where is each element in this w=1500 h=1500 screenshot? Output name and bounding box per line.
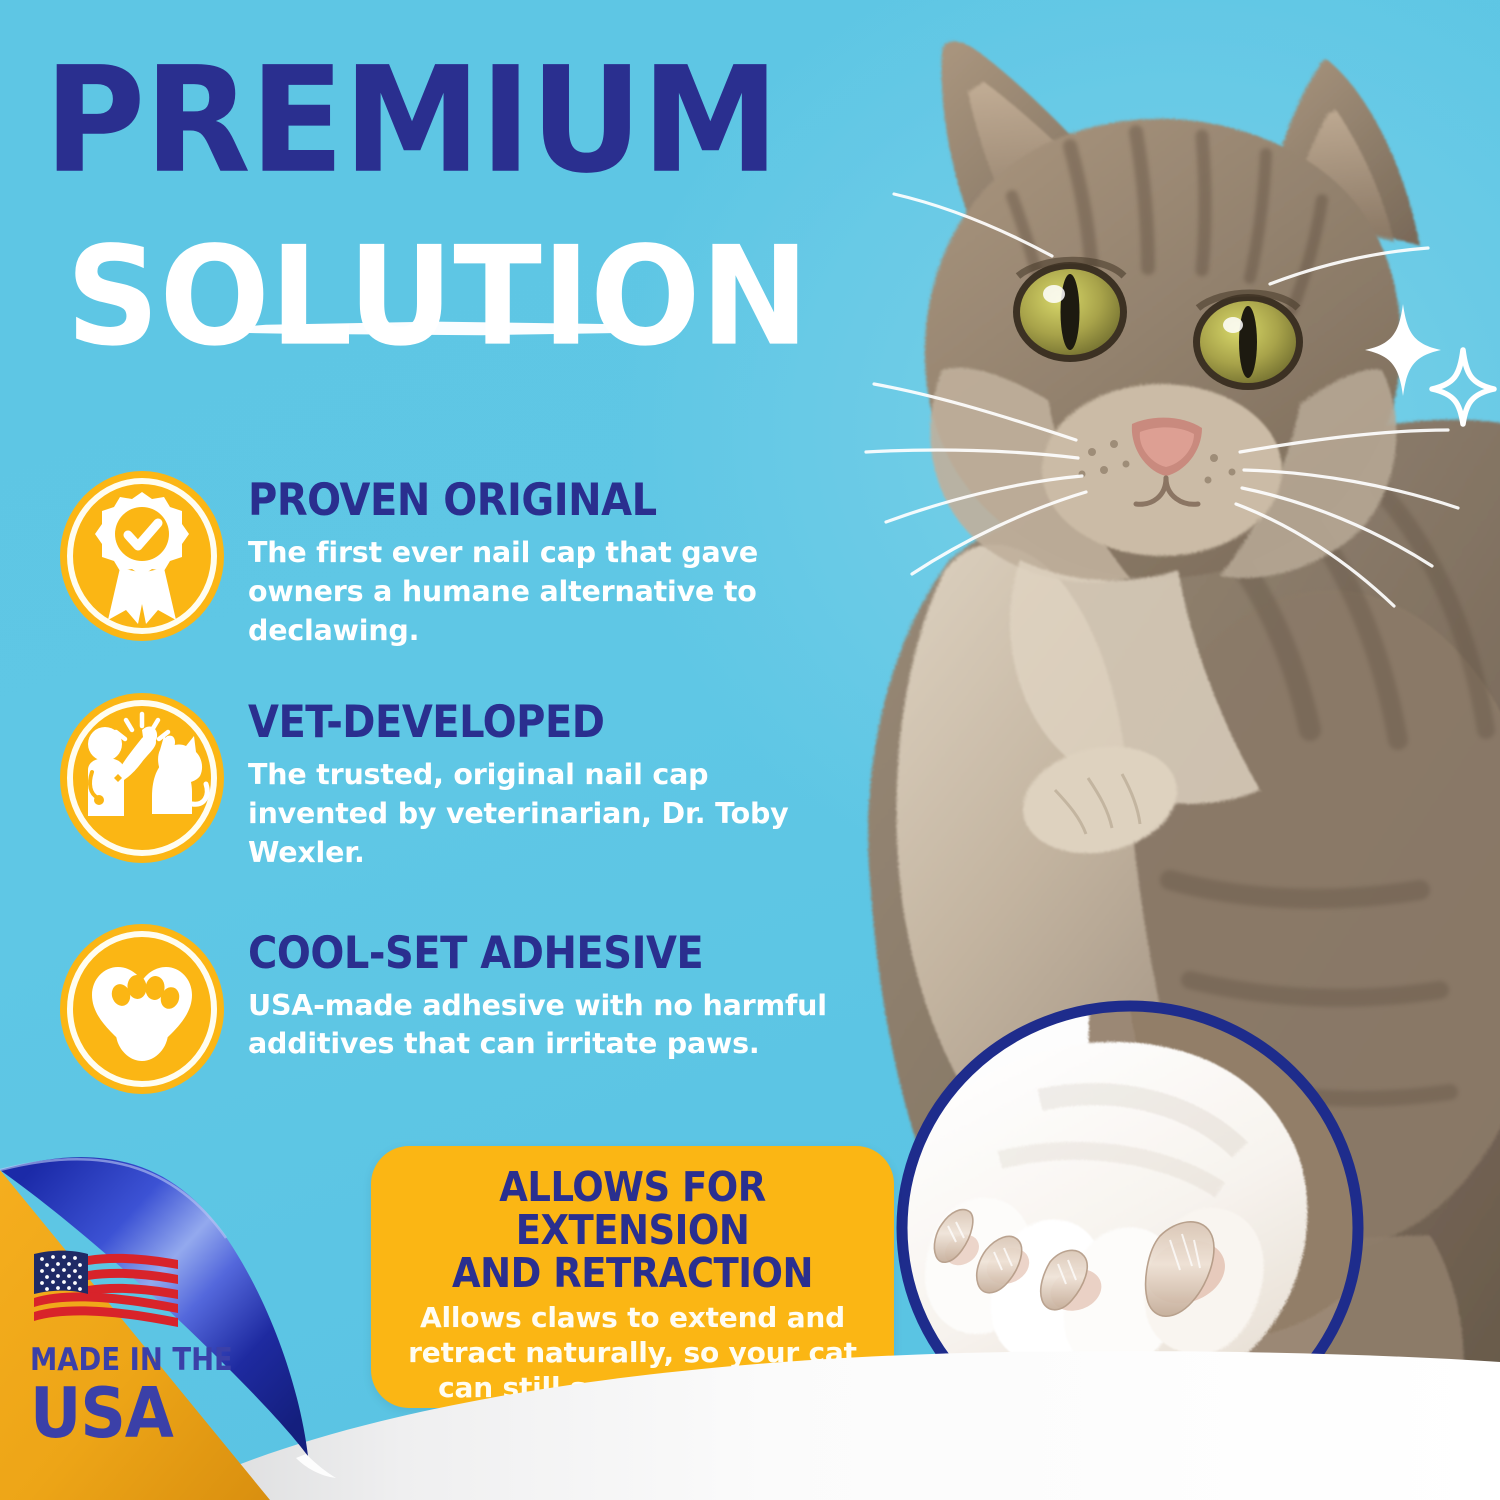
made-in-usa-badge: MADE IN THE USA bbox=[30, 1246, 260, 1438]
feature-title: VET-DEVELOPED bbox=[248, 700, 888, 745]
feature-item-cool-set-adhesive: COOL-SET ADHESIVE USA-made adhesive with… bbox=[58, 923, 888, 1095]
feature-list: PROVEN ORIGINAL The first ever nail cap … bbox=[58, 470, 888, 1095]
callout-title-line1: ALLOWS FOR EXTENSION bbox=[387, 1166, 878, 1252]
callout-body: Allows claws to extend and retract natur… bbox=[387, 1300, 878, 1441]
feature-description: The trusted, original nail cap invented … bbox=[248, 756, 848, 872]
headline-premium: PREMIUM bbox=[44, 52, 897, 192]
headline-solution: SOLUTION bbox=[66, 230, 944, 364]
headline-block: PREMIUM SOLUTION bbox=[44, 52, 864, 345]
feature-description: USA-made adhesive with no harmful additi… bbox=[248, 987, 848, 1065]
award-ribbon-icon bbox=[58, 470, 226, 642]
feature-title: COOL-SET ADHESIVE bbox=[248, 931, 888, 976]
feature-text-block: VET-DEVELOPED The trusted, original nail… bbox=[248, 692, 888, 872]
callout-extension-retraction: ALLOWS FOR EXTENSION AND RETRACTION Allo… bbox=[371, 1146, 894, 1408]
sparkle-star-solid-icon bbox=[1365, 304, 1441, 396]
callout-title: ALLOWS FOR EXTENSION AND RETRACTION bbox=[387, 1166, 878, 1295]
callout-title-line2: AND RETRACTION bbox=[387, 1252, 878, 1295]
made-in-usa-line1: MADE IN THE bbox=[30, 1344, 255, 1375]
sparkle-star-outline-icon bbox=[1432, 350, 1494, 424]
feature-text-block: PROVEN ORIGINAL The first ever nail cap … bbox=[248, 470, 888, 650]
feature-text-block: COOL-SET ADHESIVE USA-made adhesive with… bbox=[248, 923, 888, 1065]
infographic-canvas: PREMIUM SOLUTION PROVEN OR bbox=[0, 0, 1500, 1500]
sparkle-group bbox=[1355, 298, 1500, 428]
feature-description: The first ever nail cap that gave owners… bbox=[248, 534, 848, 650]
heart-paw-icon bbox=[58, 923, 226, 1095]
feature-title: PROVEN ORIGINAL bbox=[248, 478, 888, 523]
feature-item-vet-developed: VET-DEVELOPED The trusted, original nail… bbox=[58, 692, 888, 872]
usa-flag-icon bbox=[30, 1246, 180, 1332]
feature-item-proven-original: PROVEN ORIGINAL The first ever nail cap … bbox=[58, 470, 888, 650]
cat-paw-inset-circle bbox=[880, 1000, 1410, 1462]
made-in-usa-line2: USA bbox=[30, 1381, 265, 1445]
vet-highfive-cat-icon bbox=[58, 692, 226, 864]
